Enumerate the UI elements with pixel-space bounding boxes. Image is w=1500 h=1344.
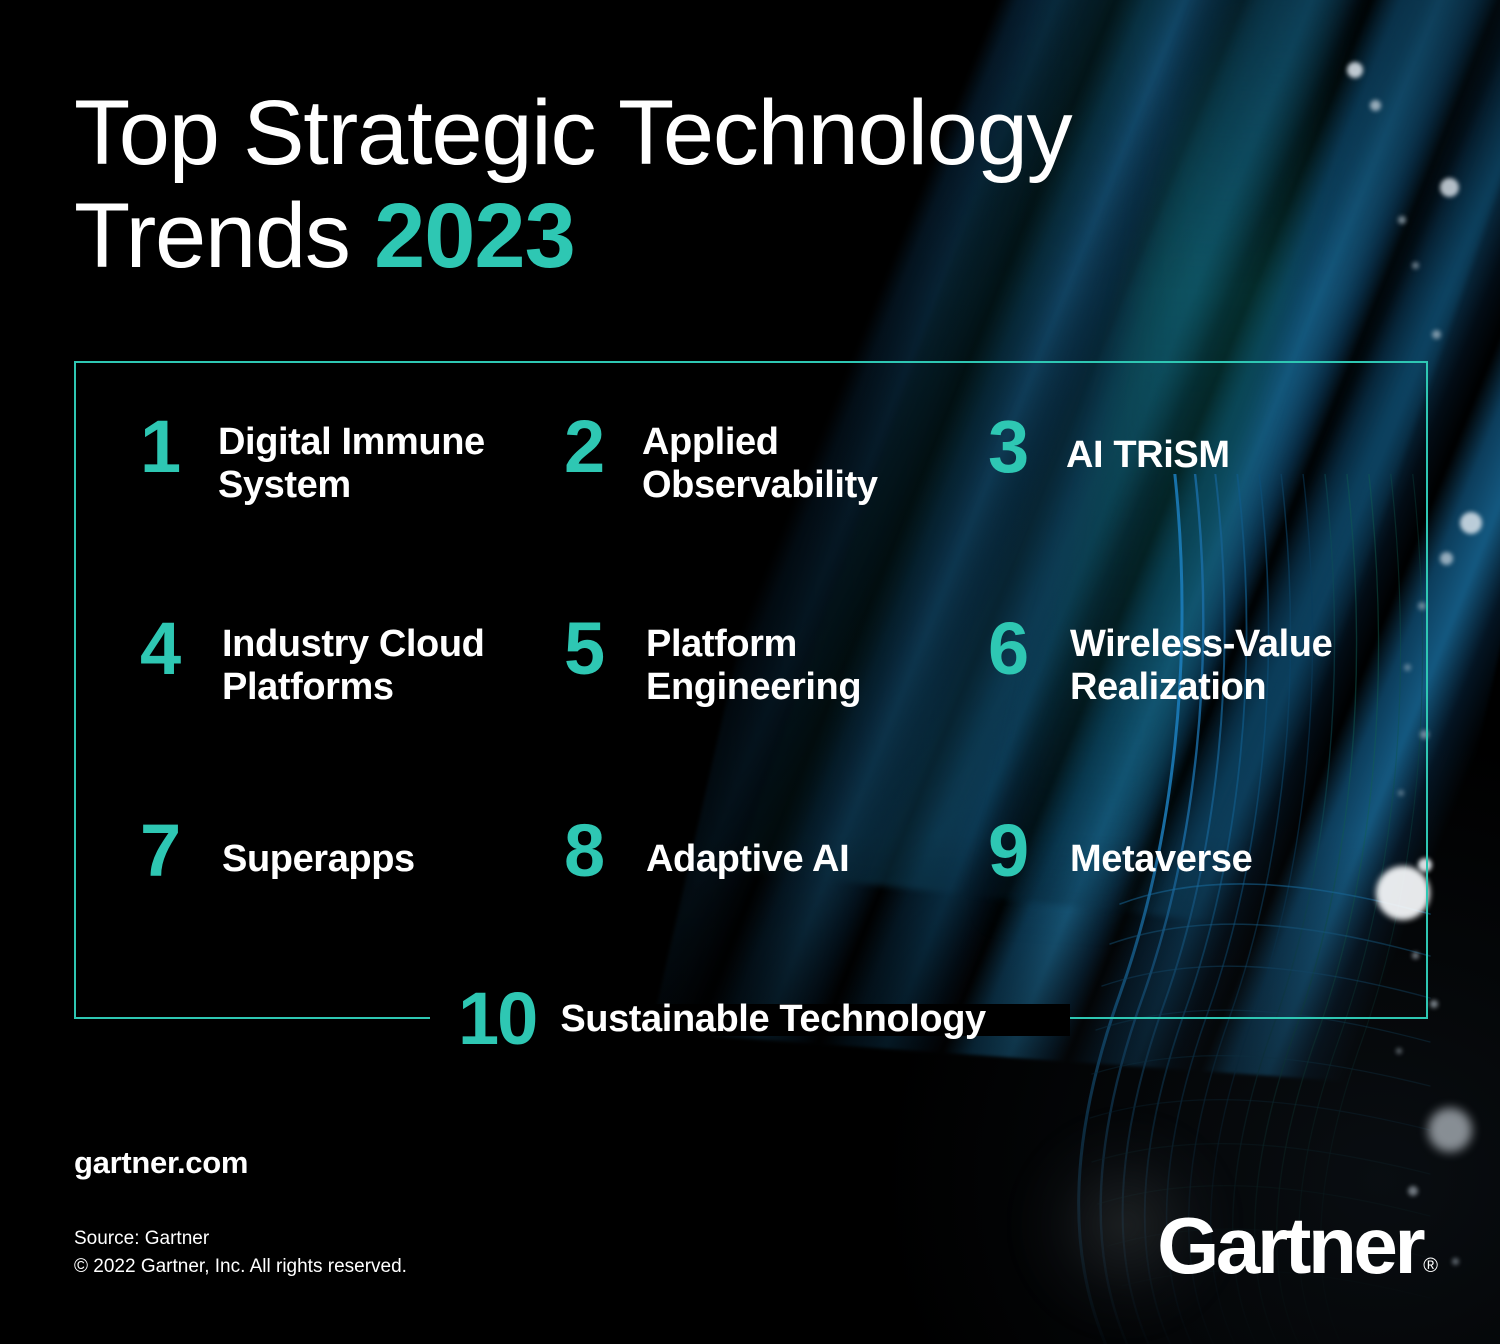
trend-label-5: Platform Engineering (646, 615, 946, 709)
trend-label-9: Metaverse (1070, 817, 1252, 881)
bokeh-particle (1440, 178, 1459, 197)
bokeh-particle (1440, 552, 1453, 565)
trends-grid: 1 Digital Immune System 2 Applied Observ… (74, 361, 1428, 1019)
trend-item-9[interactable]: 9 Metaverse (988, 817, 1418, 1019)
trend-item-2[interactable]: 2 Applied Observability (564, 413, 988, 615)
page-title: Top Strategic Technology Trends 2023 (74, 82, 1254, 288)
trend-item-3[interactable]: 3 AI TRiSM (988, 413, 1418, 615)
bokeh-particle (1430, 1000, 1438, 1008)
bokeh-particle (1408, 1186, 1418, 1196)
bokeh-particle (1396, 1048, 1402, 1054)
infographic-poster: Top Strategic Technology Trends 2023 1 D… (0, 0, 1500, 1344)
trend-number-10: 10 (458, 985, 536, 1053)
title-year: 2023 (374, 185, 575, 287)
trend-label-7: Superapps (222, 817, 415, 881)
gartner-logo: Gartner ® (1157, 1210, 1438, 1282)
trend-number-3: 3 (988, 413, 1046, 481)
gartner-logo-text: Gartner (1157, 1210, 1422, 1282)
trend-number-4: 4 (140, 615, 202, 683)
trend-label-2: Applied Observability (642, 413, 942, 507)
trend-label-10: Sustainable Technology (560, 998, 985, 1041)
trend-label-1: Digital Immune System (218, 413, 518, 507)
source-line: Source: Gartner (74, 1225, 407, 1253)
trend-number-8: 8 (564, 817, 626, 885)
trend-item-1[interactable]: 1 Digital Immune System (140, 413, 564, 615)
trend-label-4: Industry Cloud Platforms (222, 615, 522, 709)
trend-label-3: AI TRiSM (1066, 413, 1230, 477)
website-url[interactable]: gartner.com (74, 1145, 248, 1181)
trend-item-6[interactable]: 6 Wireless-Value Realization (988, 615, 1418, 817)
bokeh-particle (1398, 216, 1406, 224)
bokeh-particle (1412, 262, 1419, 269)
trend-item-4[interactable]: 4 Industry Cloud Platforms (140, 615, 564, 817)
source-credit: Source: Gartner © 2022 Gartner, Inc. All… (74, 1225, 407, 1280)
bokeh-particle (1347, 62, 1363, 78)
trend-number-2: 2 (564, 413, 622, 481)
trend-label-6: Wireless-Value Realization (1070, 615, 1370, 709)
title-line-1: Top Strategic Technology (74, 82, 1072, 184)
trend-number-1: 1 (140, 413, 198, 481)
trend-number-6: 6 (988, 615, 1050, 683)
trend-number-9: 9 (988, 817, 1050, 885)
trend-item-5[interactable]: 5 Platform Engineering (564, 615, 988, 817)
bokeh-particle (1452, 1258, 1459, 1265)
trend-number-7: 7 (140, 817, 202, 885)
bokeh-particle (1370, 100, 1381, 111)
registered-trademark-icon: ® (1423, 1256, 1438, 1276)
bokeh-particle-large (1428, 1108, 1472, 1152)
title-line-2-prefix: Trends (74, 185, 374, 287)
trend-number-5: 5 (564, 615, 626, 683)
bokeh-particle (1460, 512, 1482, 534)
bokeh-particle (1432, 330, 1441, 339)
trend-label-8: Adaptive AI (646, 817, 849, 881)
copyright-line: © 2022 Gartner, Inc. All rights reserved… (74, 1253, 407, 1281)
trend-item-10[interactable]: 10 Sustainable Technology (458, 985, 986, 1053)
